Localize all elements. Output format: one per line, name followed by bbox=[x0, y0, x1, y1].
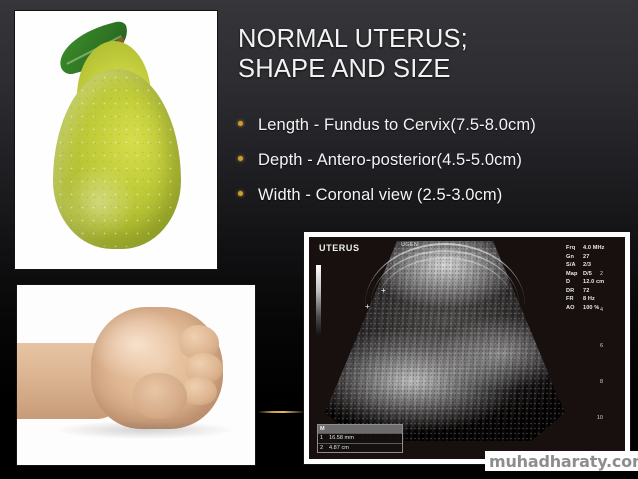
measurement-value: 4.87 cm bbox=[329, 444, 357, 452]
depth-tick: 6 bbox=[600, 343, 603, 349]
list-item-label: Length - Fundus to Cervix(7.5-8.0cm) bbox=[258, 116, 536, 136]
parameter-key: AO bbox=[566, 304, 583, 313]
ultrasound-parameter-block: Frq 4.0 MHz Gn 27 S/A 2/3 Map D/5 D 12 bbox=[566, 244, 615, 312]
fist-photo-canvas bbox=[17, 285, 255, 465]
fist-photo bbox=[16, 284, 256, 466]
ultrasound-corner-label: UGEN bbox=[401, 242, 418, 248]
ultrasound-organ-label: UTERUS bbox=[319, 243, 360, 253]
ultrasound-measurement-box: M 1 16.58 mm 2 4.87 cm bbox=[317, 424, 403, 453]
page-title: NORMAL UTERUS; SHAPE AND SIZE bbox=[238, 24, 630, 84]
parameter-key: Map bbox=[566, 270, 583, 279]
depth-tick: 8 bbox=[600, 379, 603, 385]
ultrasound-greyscale-bar bbox=[316, 265, 321, 335]
measurement-header: M bbox=[318, 425, 402, 433]
parameter-row: Gn 27 bbox=[566, 253, 615, 262]
parameter-key: FR bbox=[566, 295, 583, 304]
measurement-value: 16.58 mm bbox=[329, 434, 357, 442]
parameter-row: Frq 4.0 MHz bbox=[566, 244, 615, 253]
watermark-text: muhadharaty.com bbox=[489, 452, 638, 471]
ultrasound-depth-scale: 2 4 6 8 10 bbox=[595, 245, 603, 441]
bullet-dot-icon bbox=[238, 191, 243, 196]
parameter-key: DR bbox=[566, 287, 583, 296]
list-item: Width - Coronal view (2.5-3.0cm) bbox=[238, 186, 634, 206]
depth-tick: 2 bbox=[600, 271, 603, 277]
parameter-key: Frq bbox=[566, 244, 583, 253]
pear-photo-canvas bbox=[15, 11, 217, 269]
parameter-key: Gn bbox=[566, 253, 583, 262]
bullet-dot-icon bbox=[238, 121, 243, 126]
caliper-marker-icon: + bbox=[381, 287, 386, 295]
list-item: Length - Fundus to Cervix(7.5-8.0cm) bbox=[238, 116, 634, 136]
parameter-row: Map D/5 bbox=[566, 270, 615, 279]
parameter-row: DR 72 bbox=[566, 287, 615, 296]
gold-divider-line bbox=[258, 411, 304, 413]
list-item: Depth - Antero-posterior(4.5-5.0cm) bbox=[238, 151, 634, 171]
parameter-row: AO 100 % bbox=[566, 304, 615, 313]
caliper-marker-icon: + bbox=[365, 303, 370, 311]
fist-shadow bbox=[57, 421, 233, 439]
depth-tick: 4 bbox=[600, 307, 603, 313]
parameter-row: D 12.0 cm bbox=[566, 278, 615, 287]
list-item-label: Width - Coronal view (2.5-3.0cm) bbox=[258, 186, 502, 206]
bullet-list: Length - Fundus to Cervix(7.5-8.0cm) Dep… bbox=[238, 116, 634, 220]
thumb-shape bbox=[133, 373, 187, 419]
parameter-key: D bbox=[566, 278, 583, 287]
list-item-label: Depth - Antero-posterior(4.5-5.0cm) bbox=[258, 151, 522, 171]
parameter-key: S/A bbox=[566, 261, 583, 270]
parameter-row: FR 8 Hz bbox=[566, 295, 615, 304]
measurement-row: 1 16.58 mm bbox=[318, 433, 402, 442]
uterus-ultrasound: UTERUS UGEN + + Frq 4.0 MHz Gn 27 S/A 2/… bbox=[303, 231, 631, 465]
slide-canvas: NORMAL UTERUS; SHAPE AND SIZE Length - F… bbox=[0, 0, 638, 479]
parameter-row: S/A 2/3 bbox=[566, 261, 615, 270]
pear-photo bbox=[14, 10, 218, 270]
ultrasound-screen: UTERUS UGEN + + Frq 4.0 MHz Gn 27 S/A 2/… bbox=[309, 237, 625, 459]
measurement-label: 2 bbox=[320, 444, 325, 452]
measurement-label: 1 bbox=[320, 434, 325, 442]
measurement-row: 2 4.87 cm bbox=[318, 443, 402, 452]
bullet-dot-icon bbox=[238, 156, 243, 161]
depth-tick: 10 bbox=[597, 415, 603, 421]
